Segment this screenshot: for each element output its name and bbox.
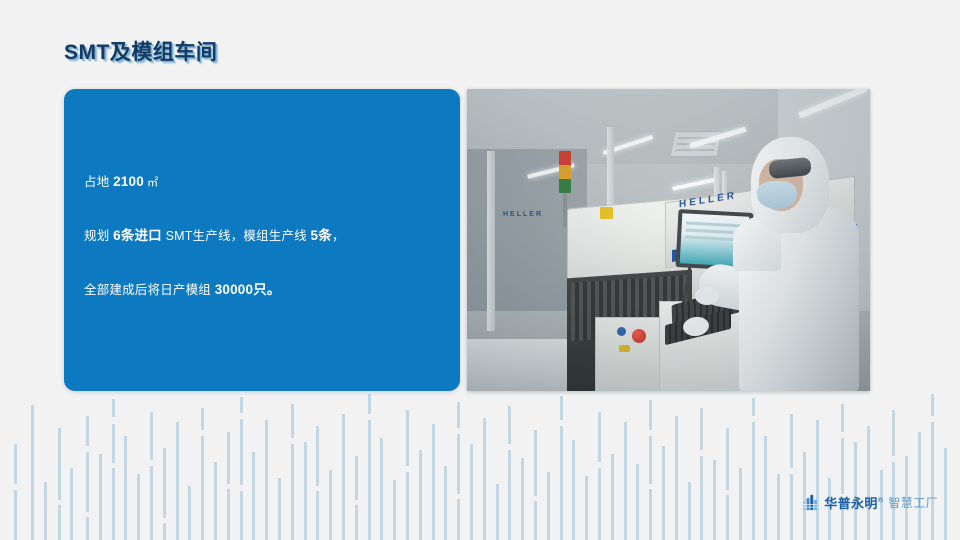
decorative-bar-segment: [380, 438, 383, 540]
decorative-bar-segment: [560, 396, 563, 420]
decorative-bar-segment: [790, 414, 793, 468]
decorative-bar-segment: [406, 472, 409, 540]
decorative-bar-segment: [14, 490, 17, 540]
decorative-bar-pattern: [0, 390, 960, 540]
decorative-bar-segment: [790, 474, 793, 540]
decorative-bar-segment: [931, 422, 934, 540]
decorative-bar-segment: [316, 426, 319, 486]
decorative-bar-segment: [44, 482, 47, 540]
decorative-bar-segment: [649, 489, 652, 540]
decorative-bar-segment: [31, 405, 34, 540]
decorative-bar-segment: [58, 505, 61, 540]
decorative-bar-segment: [70, 468, 73, 540]
decorative-bar-segment: [86, 416, 89, 446]
decorative-bar-segment: [508, 406, 511, 444]
decorative-bar-segment: [457, 499, 460, 540]
decorative-bar-segment: [278, 478, 281, 540]
decorative-bar-segment: [611, 454, 614, 540]
decorative-bar-segment: [368, 394, 371, 414]
decorative-bar-segment: [675, 416, 678, 540]
info-line-lines-count-import: 6条进口: [113, 228, 162, 243]
info-line-area-prefix: 占地: [84, 175, 113, 189]
decorative-bar-segment: [444, 466, 447, 540]
decorative-bar-segment: [585, 476, 588, 540]
decorative-bar-segment: [624, 422, 627, 540]
decorative-bar-segment: [240, 491, 243, 540]
info-line-lines-suffix: ，: [332, 229, 345, 243]
decorative-bar-segment: [112, 399, 115, 417]
decorative-bar-segment: [112, 424, 115, 463]
decorative-bar-segment: [547, 472, 550, 540]
decorative-bar-segment: [649, 400, 652, 430]
decorative-bar-segment: [700, 408, 703, 450]
decorative-bar-segment: [752, 398, 755, 416]
info-card-text-block: 占地 2100 ㎡ 规划 6条进口 SMT生产线，模组生产线 5条， 全部建成后…: [84, 173, 444, 300]
decorative-bar-segment: [918, 432, 921, 540]
decorative-bar-segment: [841, 438, 844, 494]
decorative-bar-segment: [227, 432, 230, 484]
info-line-lines-prefix: 规划: [84, 229, 113, 243]
decorative-bar-segment: [726, 495, 729, 540]
decorative-bar-segment: [163, 448, 166, 518]
decorative-bar-segment: [329, 470, 332, 540]
info-line-lines-count-module: 5条: [311, 228, 332, 243]
decorative-bar-segment: [508, 450, 511, 540]
decorative-bar-segment: [688, 482, 691, 540]
decorative-bar-segment: [764, 436, 767, 540]
decorative-bar-segment: [201, 408, 204, 430]
decorative-bar-segment: [240, 397, 243, 413]
decorative-bar-segment: [227, 489, 230, 540]
decorative-bar-segment: [150, 412, 153, 460]
info-line-lines-mid: SMT生产线，模组生产线: [162, 229, 311, 243]
decorative-bar-segment: [726, 428, 729, 490]
workshop-photo: HELLER HELLER: [467, 89, 870, 391]
decorative-bar-segment: [58, 428, 61, 500]
decorative-bar-segment: [598, 468, 601, 540]
decorative-bar-segment: [931, 394, 934, 416]
decorative-bar-segment: [393, 480, 396, 540]
decorative-bar-segment: [483, 418, 486, 540]
decorative-bar-segment: [252, 452, 255, 540]
registered-mark: ®: [878, 498, 884, 505]
info-line-lines: 规划 6条进口 SMT生产线，模组生产线 5条，: [84, 227, 444, 245]
decorative-bar-segment: [598, 412, 601, 462]
decorative-bar-segment: [355, 456, 358, 500]
info-line-capacity: 全部建成后将日产模组 30000只。: [84, 281, 444, 299]
info-line-capacity-prefix: 全部建成后将日产模组: [84, 283, 215, 297]
decorative-bar-segment: [649, 436, 652, 484]
decorative-bar-segment: [137, 474, 140, 540]
decorative-bar-segment: [739, 468, 742, 540]
decorative-bar-segment: [201, 436, 204, 540]
decorative-bar-segment: [368, 420, 371, 540]
decorative-bar-segment: [150, 466, 153, 540]
footer-logo: 华普永明® 智慧工厂: [802, 493, 938, 512]
decorative-bar-segment: [291, 404, 294, 438]
decorative-bar-segment: [355, 505, 358, 540]
info-line-area: 占地 2100 ㎡: [84, 173, 444, 191]
decorative-bar-segment: [521, 458, 524, 540]
decorative-bar-segment: [752, 422, 755, 540]
factory-chart-mark-icon: [802, 494, 819, 511]
decorative-bar-segment: [188, 486, 191, 540]
decorative-bar-segment: [240, 419, 243, 485]
decorative-bar-segment: [662, 446, 665, 540]
brand-name: 华普永明®: [824, 493, 883, 512]
decorative-bar-segment: [112, 468, 115, 540]
decorative-bar-segment: [636, 464, 639, 540]
decorative-bar-segment: [470, 444, 473, 540]
decorative-bar-segment: [457, 434, 460, 494]
decorative-bar-segment: [163, 523, 166, 540]
decorative-bar-segment: [291, 444, 294, 540]
page-title: SMT及模组车间: [64, 36, 217, 66]
decorative-bar-segment: [419, 450, 422, 540]
decorative-bar-segment: [944, 448, 947, 540]
decorative-bar-segment: [560, 426, 563, 540]
decorative-bar-segment: [777, 474, 780, 540]
decorative-bar-segment: [86, 452, 89, 512]
decorative-bar-segment: [816, 420, 819, 540]
decorative-bar-segment: [457, 402, 460, 428]
decorative-bar-segment: [214, 462, 217, 540]
decorative-bar-segment: [534, 430, 537, 496]
photo-vignette: [467, 89, 870, 391]
decorative-bar-segment: [14, 444, 17, 484]
decorative-bar-segment: [99, 454, 102, 540]
decorative-bar-segment: [700, 456, 703, 540]
decorative-bar-segment: [432, 424, 435, 540]
decorative-bar-segment: [534, 501, 537, 540]
info-line-area-unit: ㎡: [144, 177, 158, 189]
decorative-bar-segment: [316, 491, 319, 540]
decorative-bar-segment: [176, 422, 179, 540]
decorative-bar-segment: [406, 410, 409, 466]
info-line-capacity-value: 30000只。: [215, 282, 281, 297]
info-card: 占地 2100 ㎡ 规划 6条进口 SMT生产线，模组生产线 5条， 全部建成后…: [64, 89, 460, 391]
brand-subtitle: 智慧工厂: [888, 494, 938, 511]
decorative-bar-segment: [713, 460, 716, 540]
decorative-bar-segment: [841, 404, 844, 432]
info-line-area-value: 2100: [113, 174, 144, 189]
decorative-bar-segment: [867, 426, 870, 540]
decorative-bar-segment: [265, 420, 268, 540]
decorative-bar-segment: [124, 436, 127, 540]
decorative-bar-segment: [304, 442, 307, 540]
decorative-bar-segment: [572, 440, 575, 540]
decorative-bar-segment: [86, 517, 89, 540]
decorative-bar-segment: [854, 442, 857, 540]
decorative-bar-segment: [892, 410, 895, 456]
decorative-bar-segment: [342, 414, 345, 540]
decorative-bar-segment: [496, 484, 499, 540]
